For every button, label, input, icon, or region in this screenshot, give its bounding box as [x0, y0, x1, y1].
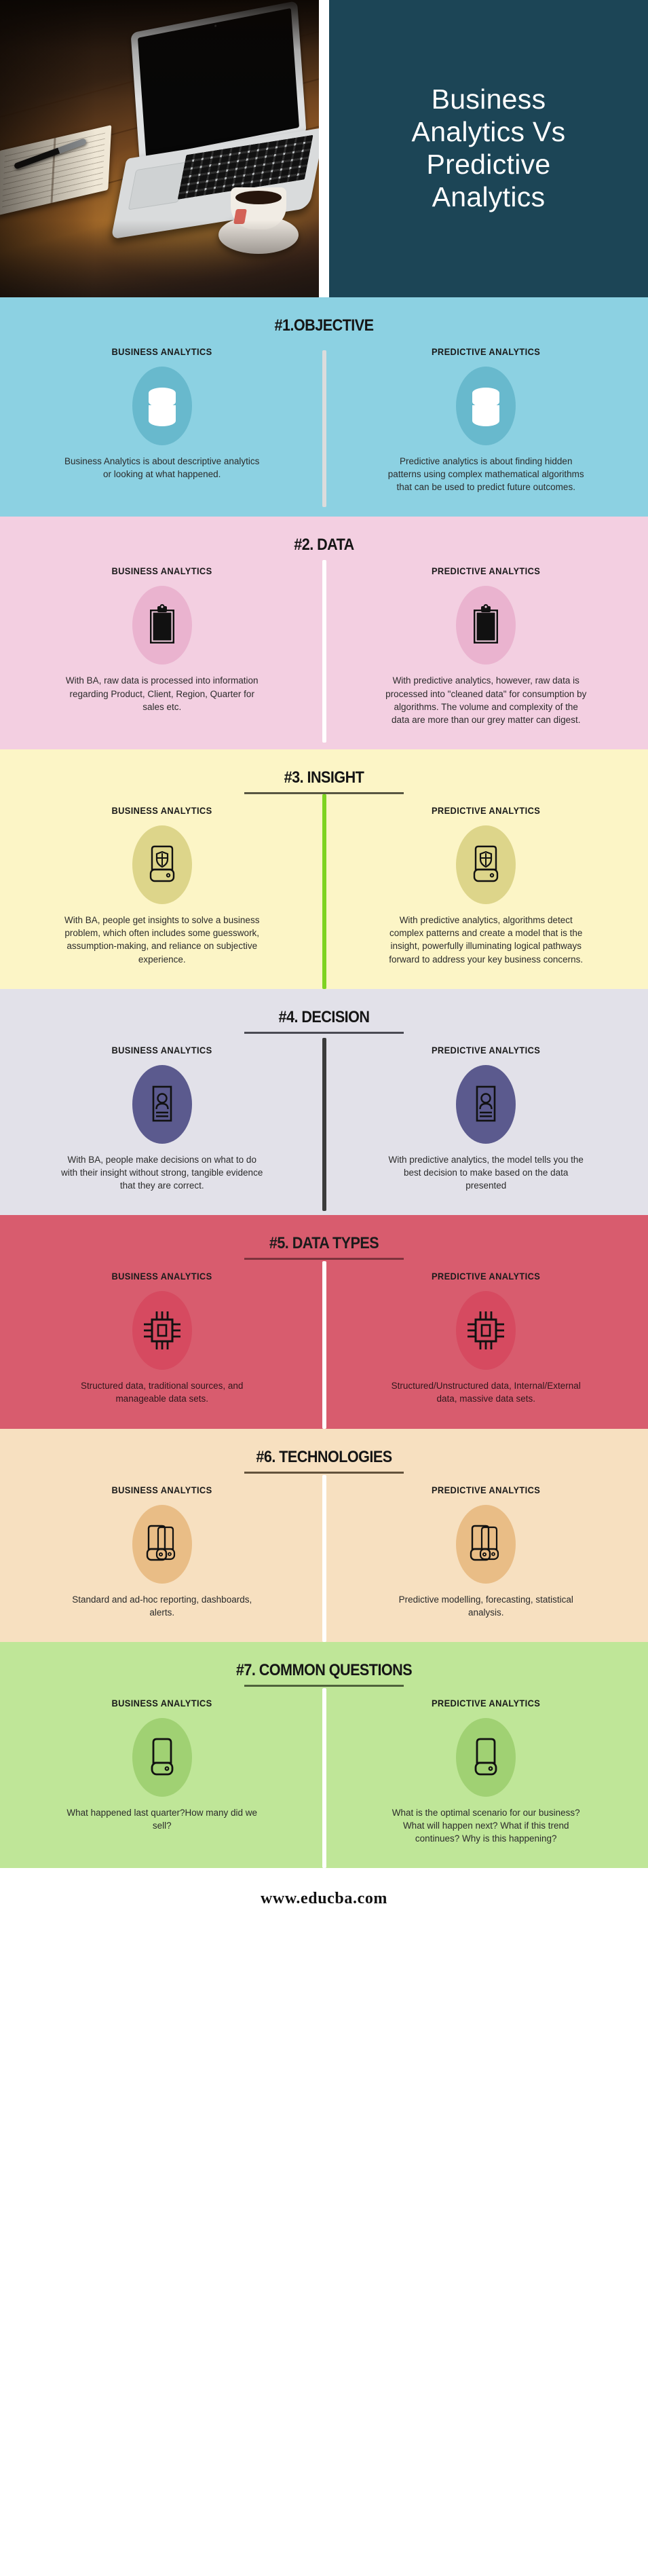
column-description: With predictive analytics, however, raw …	[384, 674, 588, 726]
column-business-analytics: BUSINESS ANALYTICS	[0, 1260, 324, 1428]
section-title: #5. DATA TYPES	[33, 1215, 616, 1253]
column-predictive-analytics: PREDICTIVE ANALYTICS With predictive ana…	[324, 1034, 648, 1215]
server-icon	[456, 1718, 516, 1797]
photo-vignette	[0, 0, 319, 297]
column-business-analytics: BUSINESS ANALYTICS With BA, raw data is …	[0, 555, 324, 749]
column-predictive-analytics: PREDICTIVE ANALYTICS Predictive modellin…	[324, 1474, 648, 1642]
title-line-1: Business	[412, 83, 566, 116]
column-description: With BA, people make decisions on what t…	[60, 1153, 264, 1192]
column-label: BUSINESS ANALYTICS	[112, 1271, 212, 1282]
column-business-analytics: BUSINESS ANALYTICS Standard and ad-hoc r…	[0, 1474, 324, 1642]
column-description: Standard and ad-hoc reporting, dashboard…	[60, 1593, 264, 1619]
section-title: #7. COMMON QUESTIONS	[33, 1642, 616, 1680]
column-description: With BA, raw data is processed into info…	[60, 674, 264, 713]
section-title: #2. DATA	[33, 517, 616, 555]
column-label: PREDICTIVE ANALYTICS	[432, 565, 540, 576]
clipboard-icon	[132, 586, 192, 665]
section-data: #2. DATA BUSINESS ANALYTICS With BA, raw…	[0, 517, 648, 749]
id-card-icon	[456, 1065, 516, 1144]
header-banner: Business Analytics Vs Predictive Analyti…	[0, 0, 648, 297]
cpu-chip-icon	[456, 1291, 516, 1370]
section-data-types: #5. DATA TYPES BUSINESS ANALYTICS	[0, 1215, 648, 1428]
column-description: Predictive modelling, forecasting, stati…	[384, 1593, 588, 1619]
footer: www.educba.com	[0, 1868, 648, 1929]
id-card-icon	[132, 1065, 192, 1144]
column-label: PREDICTIVE ANALYTICS	[432, 1485, 540, 1495]
column-description: With predictive analytics, algorithms de…	[384, 914, 588, 966]
column-label: BUSINESS ANALYTICS	[112, 346, 212, 357]
column-description: With predictive analytics, the model tel…	[384, 1153, 588, 1192]
clipboard-icon	[456, 586, 516, 665]
server-icon	[132, 1718, 192, 1797]
section-decision: #4. DECISION BUSINESS ANALYTICS With BA,…	[0, 989, 648, 1215]
column-business-analytics: BUSINESS ANALYTICS Business Analytics is…	[0, 335, 324, 517]
page-title: Business Analytics Vs Predictive Analyti…	[412, 83, 566, 214]
database-icon	[456, 367, 516, 445]
column-predictive-analytics: PREDICTIVE ANALYTICS With predictive ana…	[324, 555, 648, 749]
title-line-4: Analytics	[412, 181, 566, 214]
column-business-analytics: BUSINESS ANALYTICS What happened last qu…	[0, 1687, 324, 1868]
column-label: PREDICTIVE ANALYTICS	[432, 1698, 540, 1709]
column-predictive-analytics: PREDICTIVE ANALYTICS	[324, 1260, 648, 1428]
shield-server-icon	[456, 825, 516, 904]
column-label: BUSINESS ANALYTICS	[112, 1485, 212, 1495]
website-url[interactable]: www.educba.com	[261, 1890, 387, 1908]
column-description: Business Analytics is about descriptive …	[60, 455, 264, 481]
infographic-page: Business Analytics Vs Predictive Analyti…	[0, 0, 648, 1929]
column-description: Structured data, traditional sources, an…	[60, 1379, 264, 1405]
column-business-analytics: BUSINESS ANALYTICS With BA, people make …	[0, 1034, 324, 1215]
shield-server-icon	[132, 825, 192, 904]
title-panel: Business Analytics Vs Predictive Analyti…	[329, 0, 648, 297]
comparison-columns: BUSINESS ANALYTICS Business Analytics is…	[0, 335, 648, 517]
section-common-questions: #7. COMMON QUESTIONS BUSINESS ANALYTICS …	[0, 1642, 648, 1868]
header-gap	[319, 0, 329, 297]
hero-photo	[0, 0, 319, 297]
section-title: #4. DECISION	[33, 989, 616, 1027]
section-title: #6. TECHNOLOGIES	[33, 1429, 616, 1467]
column-description: Structured/Unstructured data, Internal/E…	[384, 1379, 588, 1405]
title-line-2: Analytics Vs	[412, 116, 566, 149]
column-description: What happened last quarter?How many did …	[60, 1806, 264, 1832]
column-predictive-analytics: PREDICTIVE ANALYTICS With predictive ana…	[324, 794, 648, 989]
column-label: PREDICTIVE ANALYTICS	[432, 346, 540, 357]
comparison-columns: BUSINESS ANALYTICS With BA, people make …	[0, 1034, 648, 1215]
column-label: PREDICTIVE ANALYTICS	[432, 1271, 540, 1282]
column-label: PREDICTIVE ANALYTICS	[432, 1045, 540, 1056]
column-label: PREDICTIVE ANALYTICS	[432, 805, 540, 816]
section-title: #1.OBJECTIVE	[33, 297, 616, 335]
title-line-3: Predictive	[412, 149, 566, 181]
column-business-analytics: BUSINESS ANALYTICS With BA, people get i…	[0, 794, 324, 989]
comparison-columns: BUSINESS ANALYTICS With BA, raw data is …	[0, 555, 648, 749]
column-description: With BA, people get insights to solve a …	[60, 914, 264, 966]
column-predictive-analytics: PREDICTIVE ANALYTICS What is the optimal…	[324, 1687, 648, 1868]
section-objective: #1.OBJECTIVE BUSINESS ANALYTICS	[0, 297, 648, 517]
section-insight: #3. INSIGHT BUSINESS ANALYTICS With BA, …	[0, 749, 648, 989]
section-technologies: #6. TECHNOLOGIES BUSINESS ANALYTICS Stan…	[0, 1429, 648, 1642]
comparison-columns: BUSINESS ANALYTICS Standard and ad-hoc r…	[0, 1474, 648, 1642]
stacked-servers-icon	[132, 1505, 192, 1584]
comparison-columns: BUSINESS ANALYTICS With BA, people get i…	[0, 794, 648, 989]
column-label: BUSINESS ANALYTICS	[112, 1045, 212, 1056]
column-description: What is the optimal scenario for our bus…	[384, 1806, 588, 1845]
database-icon	[132, 367, 192, 445]
column-label: BUSINESS ANALYTICS	[112, 565, 212, 576]
column-description: Predictive analytics is about finding hi…	[384, 455, 588, 493]
column-predictive-analytics: PREDICTIVE ANALYTICS Predictive analytic…	[324, 335, 648, 517]
comparison-columns: BUSINESS ANALYTICS What happened last qu…	[0, 1687, 648, 1868]
section-title: #3. INSIGHT	[33, 749, 616, 787]
comparison-columns: BUSINESS ANALYTICS	[0, 1260, 648, 1428]
column-label: BUSINESS ANALYTICS	[112, 1698, 212, 1709]
stacked-servers-icon	[456, 1505, 516, 1584]
column-label: BUSINESS ANALYTICS	[112, 805, 212, 816]
cpu-chip-icon	[132, 1291, 192, 1370]
